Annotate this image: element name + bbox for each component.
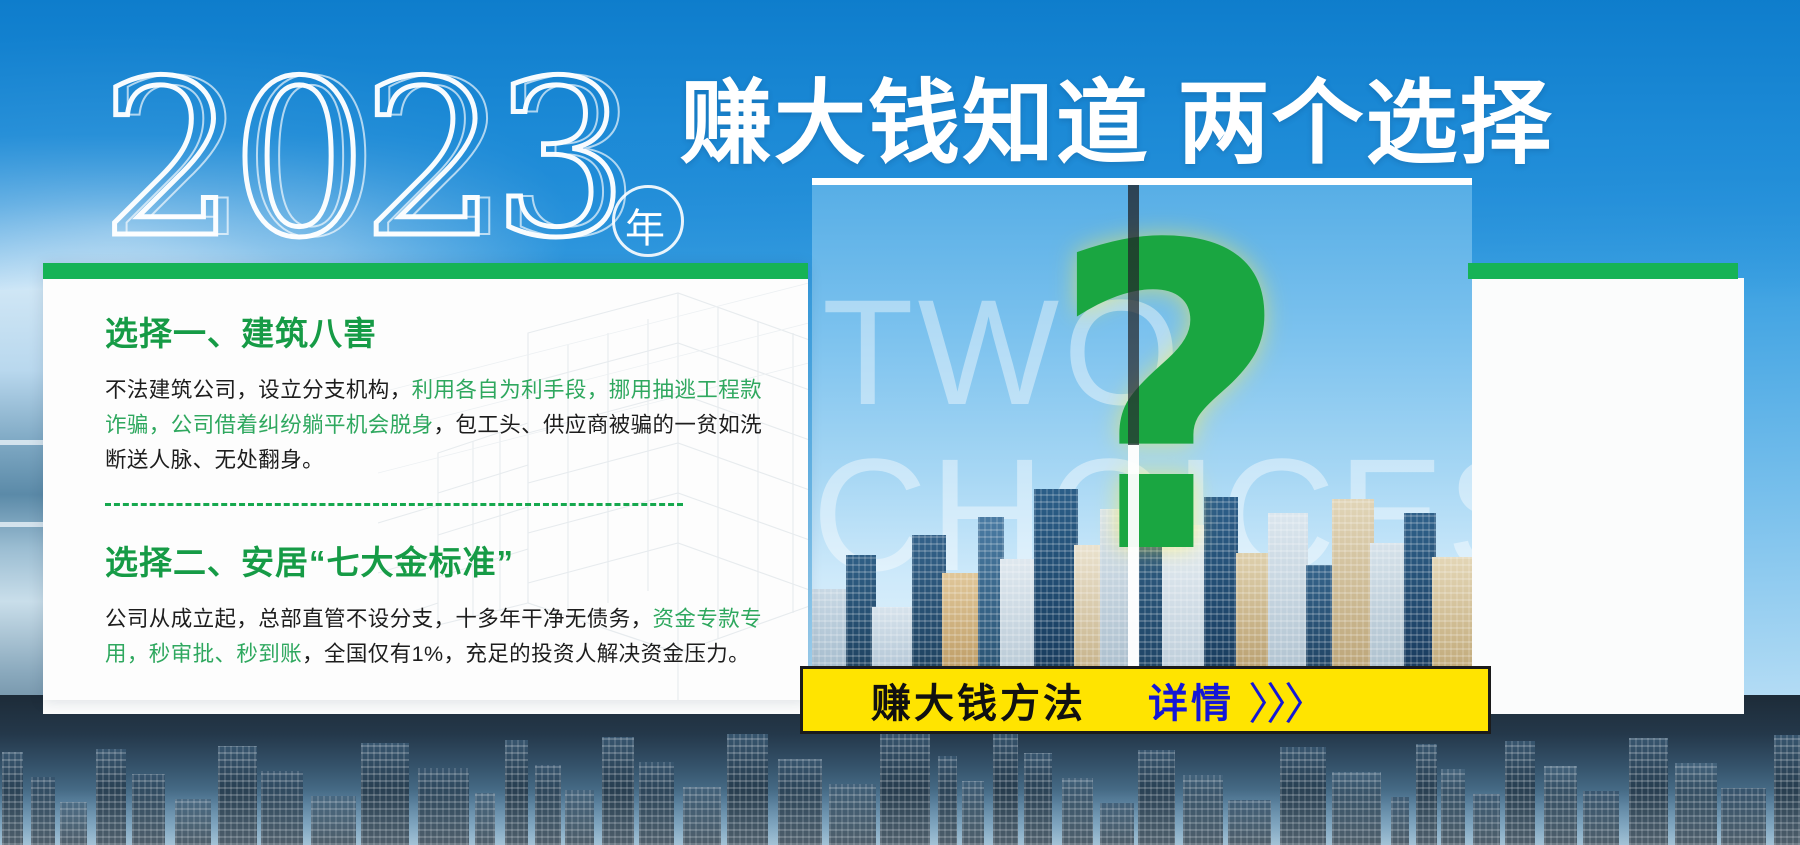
section-1-body: 不法建筑公司，设立分支机构，利用各自为利手段，挪用抽逃工程款诈骗，公司借着纠纷躺… (105, 373, 778, 477)
section-2-part-1: 公司从成立起，总部直管不设分支，十多年干净无债务， (105, 607, 653, 631)
question-mark-icon: ? (1048, 193, 1292, 613)
right-white-panel (1472, 278, 1744, 700)
left-photo-strip (0, 290, 46, 735)
poster-canvas: 2023 2023 年 赚大钱知道 两个选择 TWO CHOICES ? (0, 0, 1800, 845)
section-2-body: 公司从成立起，总部直管不设分支，十多年干净无债务，资金专款专用，秒审批、秒到账，… (105, 602, 778, 672)
headline-underline (812, 178, 1472, 185)
panel-divider-line (1128, 185, 1139, 685)
cta-label: 赚大钱方法 (871, 671, 1086, 729)
year-suffix: 年 (625, 196, 665, 254)
section-2-title: 选择二、安居“七大金标准” (105, 536, 778, 584)
cta-banner[interactable]: 赚大钱方法 详情 〉〉〉 (800, 666, 1491, 734)
section-1-title: 选择一、建筑八害 (105, 307, 778, 355)
section-divider (105, 503, 683, 506)
cta-action-link[interactable]: 详情 (1148, 671, 1234, 729)
section-1-part-1: 不法建筑公司，设立分支机构， (105, 378, 412, 402)
right-visual-panel: TWO CHOICES ? (812, 185, 1472, 685)
content-card: 选择一、建筑八害 不法建筑公司，设立分支机构，利用各自为利手段，挪用抽逃工程款诈… (43, 263, 808, 700)
chevron-right-icon: 〉〉〉 (1248, 668, 1324, 732)
section-2-part-3: ，全国仅有1%，充足的投资人解决资金压力。 (302, 642, 750, 666)
year-outline-shadow: 2023 (112, 52, 635, 267)
right-green-accent-bar (1468, 263, 1738, 279)
page-title: 赚大钱知道 两个选择 (680, 78, 1554, 170)
